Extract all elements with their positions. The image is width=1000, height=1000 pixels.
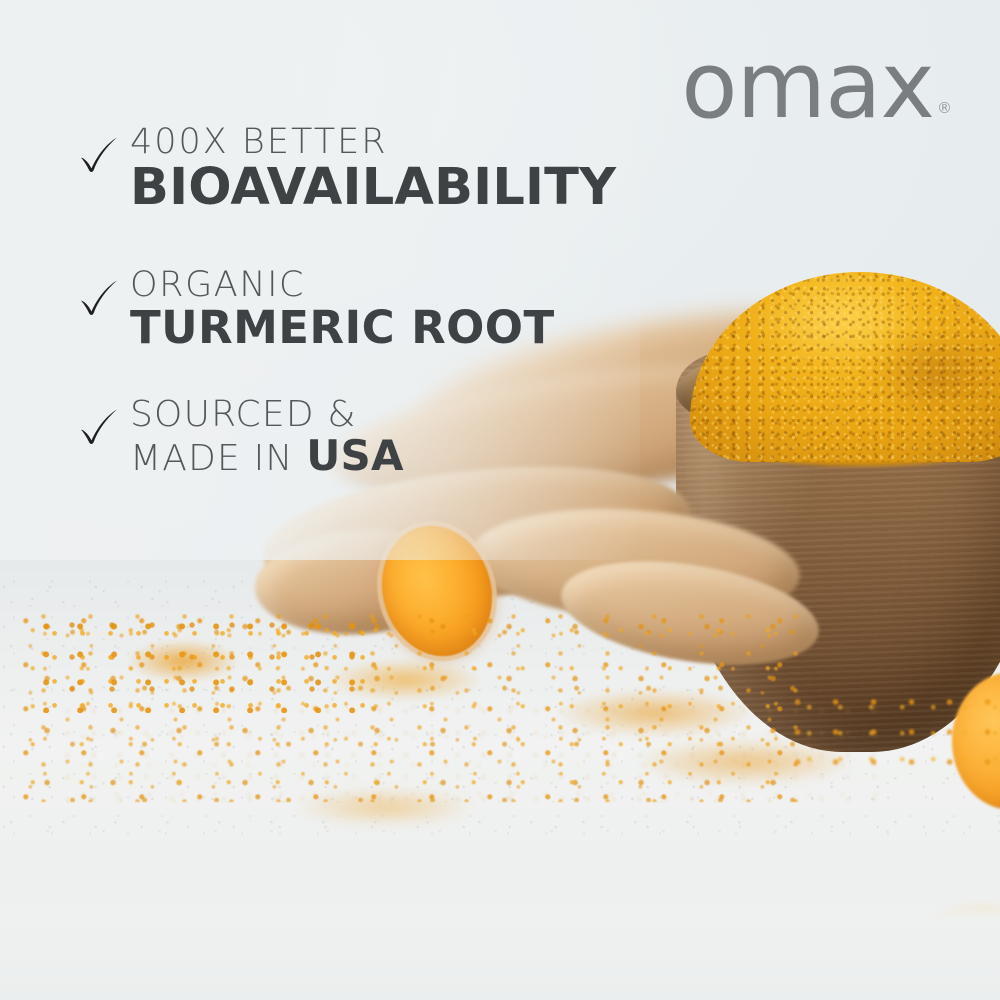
feature-emphasis: USA (306, 431, 403, 480)
feature-list: 400X BETTER BIOAVAILABILITY ORGANIC TURM… (76, 124, 636, 515)
feature-subtitle: ORGANIC (130, 267, 636, 304)
overlay-content: omax ® 400X BETTER BIOAVAILABILITY (0, 0, 1000, 1000)
feature-item: ORGANIC TURMERIC ROOT (76, 267, 636, 352)
feature-subtitle: SOURCED & (130, 396, 636, 434)
brand-logo-text: omax (681, 48, 934, 123)
registered-trademark-icon: ® (937, 99, 952, 117)
feature-text: ORGANIC TURMERIC ROOT (130, 267, 636, 352)
feature-item: SOURCED & MADE IN USA (76, 396, 636, 479)
brand-logo: omax ® (681, 48, 952, 123)
feature-subtitle-2-text: MADE IN (130, 438, 306, 479)
feature-text: 400X BETTER BIOAVAILABILITY (130, 124, 636, 215)
feature-subtitle-2: MADE IN USA (130, 434, 636, 479)
checkmark-icon (76, 404, 122, 450)
checkmark-icon (76, 132, 122, 178)
feature-text: SOURCED & MADE IN USA (130, 396, 636, 479)
checkmark-icon (76, 275, 122, 321)
feature-title: TURMERIC ROOT (130, 304, 636, 352)
feature-subtitle: 400X BETTER (130, 124, 636, 161)
product-feature-banner: omax ® 400X BETTER BIOAVAILABILITY (0, 0, 1000, 1000)
feature-title: BIOAVAILABILITY (130, 161, 636, 215)
feature-item: 400X BETTER BIOAVAILABILITY (76, 124, 636, 215)
